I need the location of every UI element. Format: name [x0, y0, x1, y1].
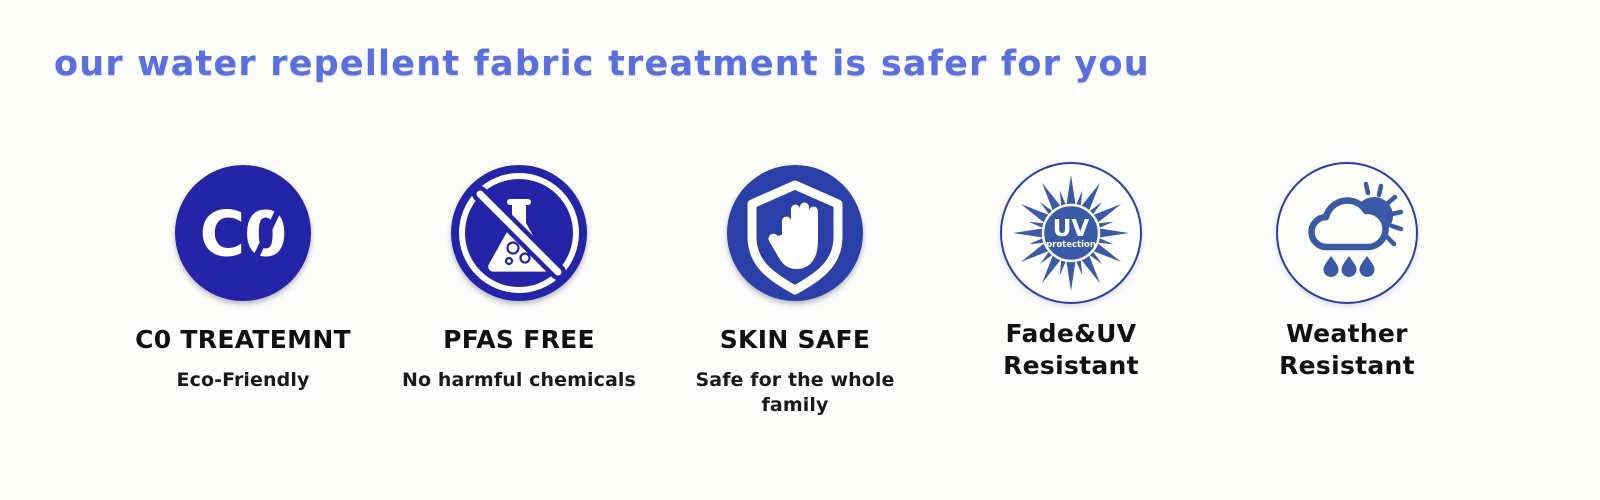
feature-title: Weather Resistant	[1279, 318, 1415, 382]
page-title: our water repellent fabric treatment is …	[54, 44, 1150, 84]
feature-title: Fade&UV Resistant	[1003, 318, 1139, 382]
feature-subtitle: No harmful chemicals	[402, 368, 636, 393]
uv-icon-subtext: protection	[1046, 240, 1096, 250]
feature-title: PFAS FREE	[443, 324, 595, 356]
uv-sunburst-icon: UV protection	[996, 158, 1146, 308]
feature-title: C0 TREATEMNT	[135, 324, 351, 356]
shield-hand-icon	[720, 158, 870, 308]
promo-banner: our water repellent fabric treatment is …	[0, 0, 1600, 500]
feature-list: C0 C0 TREATEMNT Eco-Friendly	[110, 158, 1480, 417]
feature-title: SKIN SAFE	[720, 324, 871, 356]
feature-subtitle: Eco-Friendly	[177, 368, 310, 393]
svg-text:C0: C0	[200, 198, 287, 271]
feature-item-pfas-free: PFAS FREE No harmful chemicals	[386, 158, 652, 393]
cloud-sun-rain-icon	[1272, 158, 1422, 308]
feature-item-skin-safe: SKIN SAFE Safe for the whole family	[662, 158, 928, 417]
uv-icon-text: UV	[1053, 216, 1090, 242]
feature-item-c0-treatment: C0 C0 TREATEMNT Eco-Friendly	[110, 158, 376, 393]
feature-item-weather-resistant: Weather Resistant	[1214, 158, 1480, 392]
c0-badge-icon: C0	[168, 158, 318, 308]
feature-item-fade-uv-resistant: UV protection Fade&UV Resistant	[938, 158, 1204, 392]
no-chemicals-flask-icon	[444, 158, 594, 308]
feature-subtitle: Safe for the whole family	[662, 368, 928, 417]
